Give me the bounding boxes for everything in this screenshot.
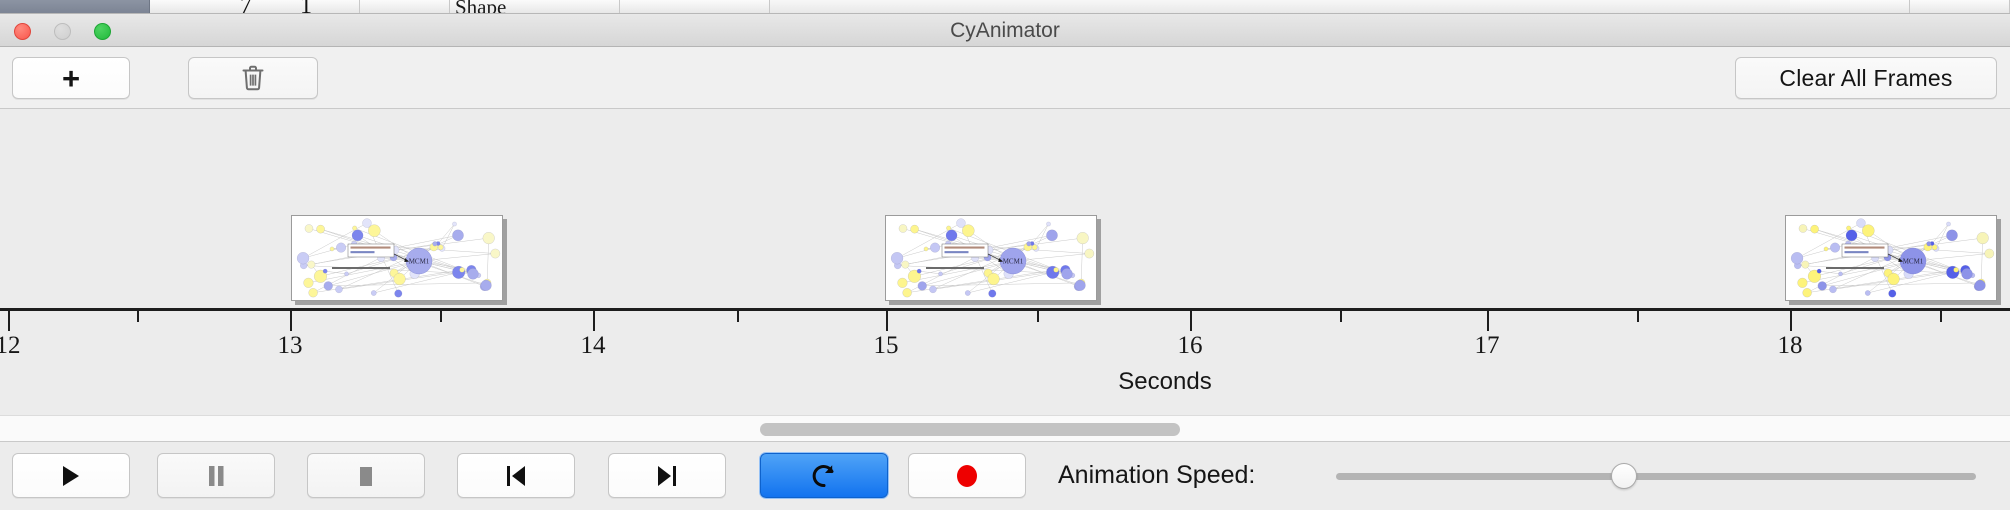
background-glyph-fragment: 7 bbox=[240, 0, 252, 14]
axis-tick-major bbox=[290, 311, 292, 331]
axis-tick-major bbox=[593, 311, 595, 331]
background-tab bbox=[1790, 0, 1910, 14]
axis-tick-minor bbox=[137, 311, 139, 322]
stop-icon bbox=[355, 464, 377, 488]
add-frame-button[interactable]: + bbox=[12, 57, 130, 99]
axis-tick-label: 16 bbox=[1178, 332, 1203, 360]
plus-icon: + bbox=[62, 63, 80, 94]
axis-tick-minor bbox=[440, 311, 442, 322]
timeline-scrollbar[interactable] bbox=[0, 415, 2010, 442]
play-icon bbox=[60, 464, 82, 488]
network-thumbnail-graph: MCM1 bbox=[1786, 216, 1997, 301]
scrollbar-thumb[interactable] bbox=[760, 423, 1180, 436]
background-tab bbox=[360, 0, 450, 14]
axis-tick-major bbox=[1190, 311, 1192, 331]
network-thumbnail-graph: MCM1 bbox=[292, 216, 503, 301]
previous-frame-button[interactable] bbox=[457, 453, 575, 498]
background-window-label: Shape bbox=[455, 0, 506, 14]
background-tab bbox=[150, 0, 360, 14]
animation-speed-slider-track[interactable] bbox=[1336, 473, 1976, 480]
next-frame-button[interactable] bbox=[608, 453, 726, 498]
clear-all-frames-label: Clear All Frames bbox=[1779, 65, 1952, 92]
background-glyph-fragment: 1 bbox=[300, 0, 312, 14]
axis-tick-label: 14 bbox=[581, 332, 606, 360]
axis-tick-label: 13 bbox=[278, 332, 303, 360]
timeline-frame-thumbnail[interactable]: MCM1 bbox=[291, 215, 503, 301]
title-bar[interactable]: CyAnimator bbox=[0, 14, 2010, 47]
timeline-frame-thumbnail[interactable]: MCM1 bbox=[885, 215, 1097, 301]
axis-tick-label: 12 bbox=[0, 332, 21, 360]
skip-forward-icon bbox=[655, 464, 679, 488]
record-button[interactable] bbox=[908, 453, 1026, 498]
hub-node-label: MCM1 bbox=[1003, 258, 1024, 266]
pause-icon bbox=[206, 464, 226, 488]
timeline-axis-line bbox=[0, 308, 2010, 311]
hub-node-label: MCM1 bbox=[1903, 258, 1924, 266]
axis-tick-major bbox=[1487, 311, 1489, 331]
animation-speed-slider-thumb[interactable] bbox=[1611, 463, 1637, 489]
cyanimator-window: 7 1 Shape CyAnimator + Clear All Frames bbox=[0, 0, 2010, 510]
window-title: CyAnimator bbox=[0, 14, 2010, 47]
play-button[interactable] bbox=[12, 453, 130, 498]
background-tab bbox=[1910, 0, 2010, 14]
axis-tick-minor bbox=[1340, 311, 1342, 322]
delete-frame-button[interactable] bbox=[188, 57, 318, 99]
background-tab-active bbox=[0, 0, 150, 14]
stop-button[interactable] bbox=[307, 453, 425, 498]
frame-toolbar: + Clear All Frames bbox=[0, 47, 2010, 109]
loop-icon bbox=[811, 462, 837, 490]
timeline-panel[interactable]: Seconds 12131415161718MCM1MCM1MCM1 bbox=[0, 110, 2010, 415]
skip-back-icon bbox=[504, 464, 528, 488]
hub-node-label: MCM1 bbox=[409, 258, 430, 266]
axis-tick-major bbox=[1790, 311, 1792, 331]
animation-speed-label: Animation Speed: bbox=[1058, 453, 1255, 498]
axis-tick-label: 15 bbox=[874, 332, 899, 360]
playback-control-bar: Animation Speed: bbox=[0, 443, 2010, 510]
loop-button[interactable] bbox=[760, 453, 888, 498]
pause-button[interactable] bbox=[157, 453, 275, 498]
network-thumbnail-graph: MCM1 bbox=[886, 216, 1097, 301]
axis-tick-major bbox=[886, 311, 888, 331]
background-tab bbox=[620, 0, 770, 14]
background-window-strip: 7 1 Shape bbox=[0, 0, 2010, 14]
axis-title: Seconds bbox=[1118, 368, 1211, 396]
record-icon bbox=[954, 463, 980, 489]
axis-tick-major bbox=[8, 311, 10, 331]
axis-tick-label: 18 bbox=[1778, 332, 1803, 360]
timeline-frame-thumbnail[interactable]: MCM1 bbox=[1785, 215, 1997, 301]
axis-tick-label: 17 bbox=[1475, 332, 1500, 360]
axis-tick-minor bbox=[737, 311, 739, 322]
trash-icon bbox=[241, 64, 265, 92]
clear-all-frames-button[interactable]: Clear All Frames bbox=[1735, 57, 1997, 99]
axis-tick-minor bbox=[1037, 311, 1039, 322]
axis-tick-minor bbox=[1940, 311, 1942, 322]
axis-tick-minor bbox=[1637, 311, 1639, 322]
